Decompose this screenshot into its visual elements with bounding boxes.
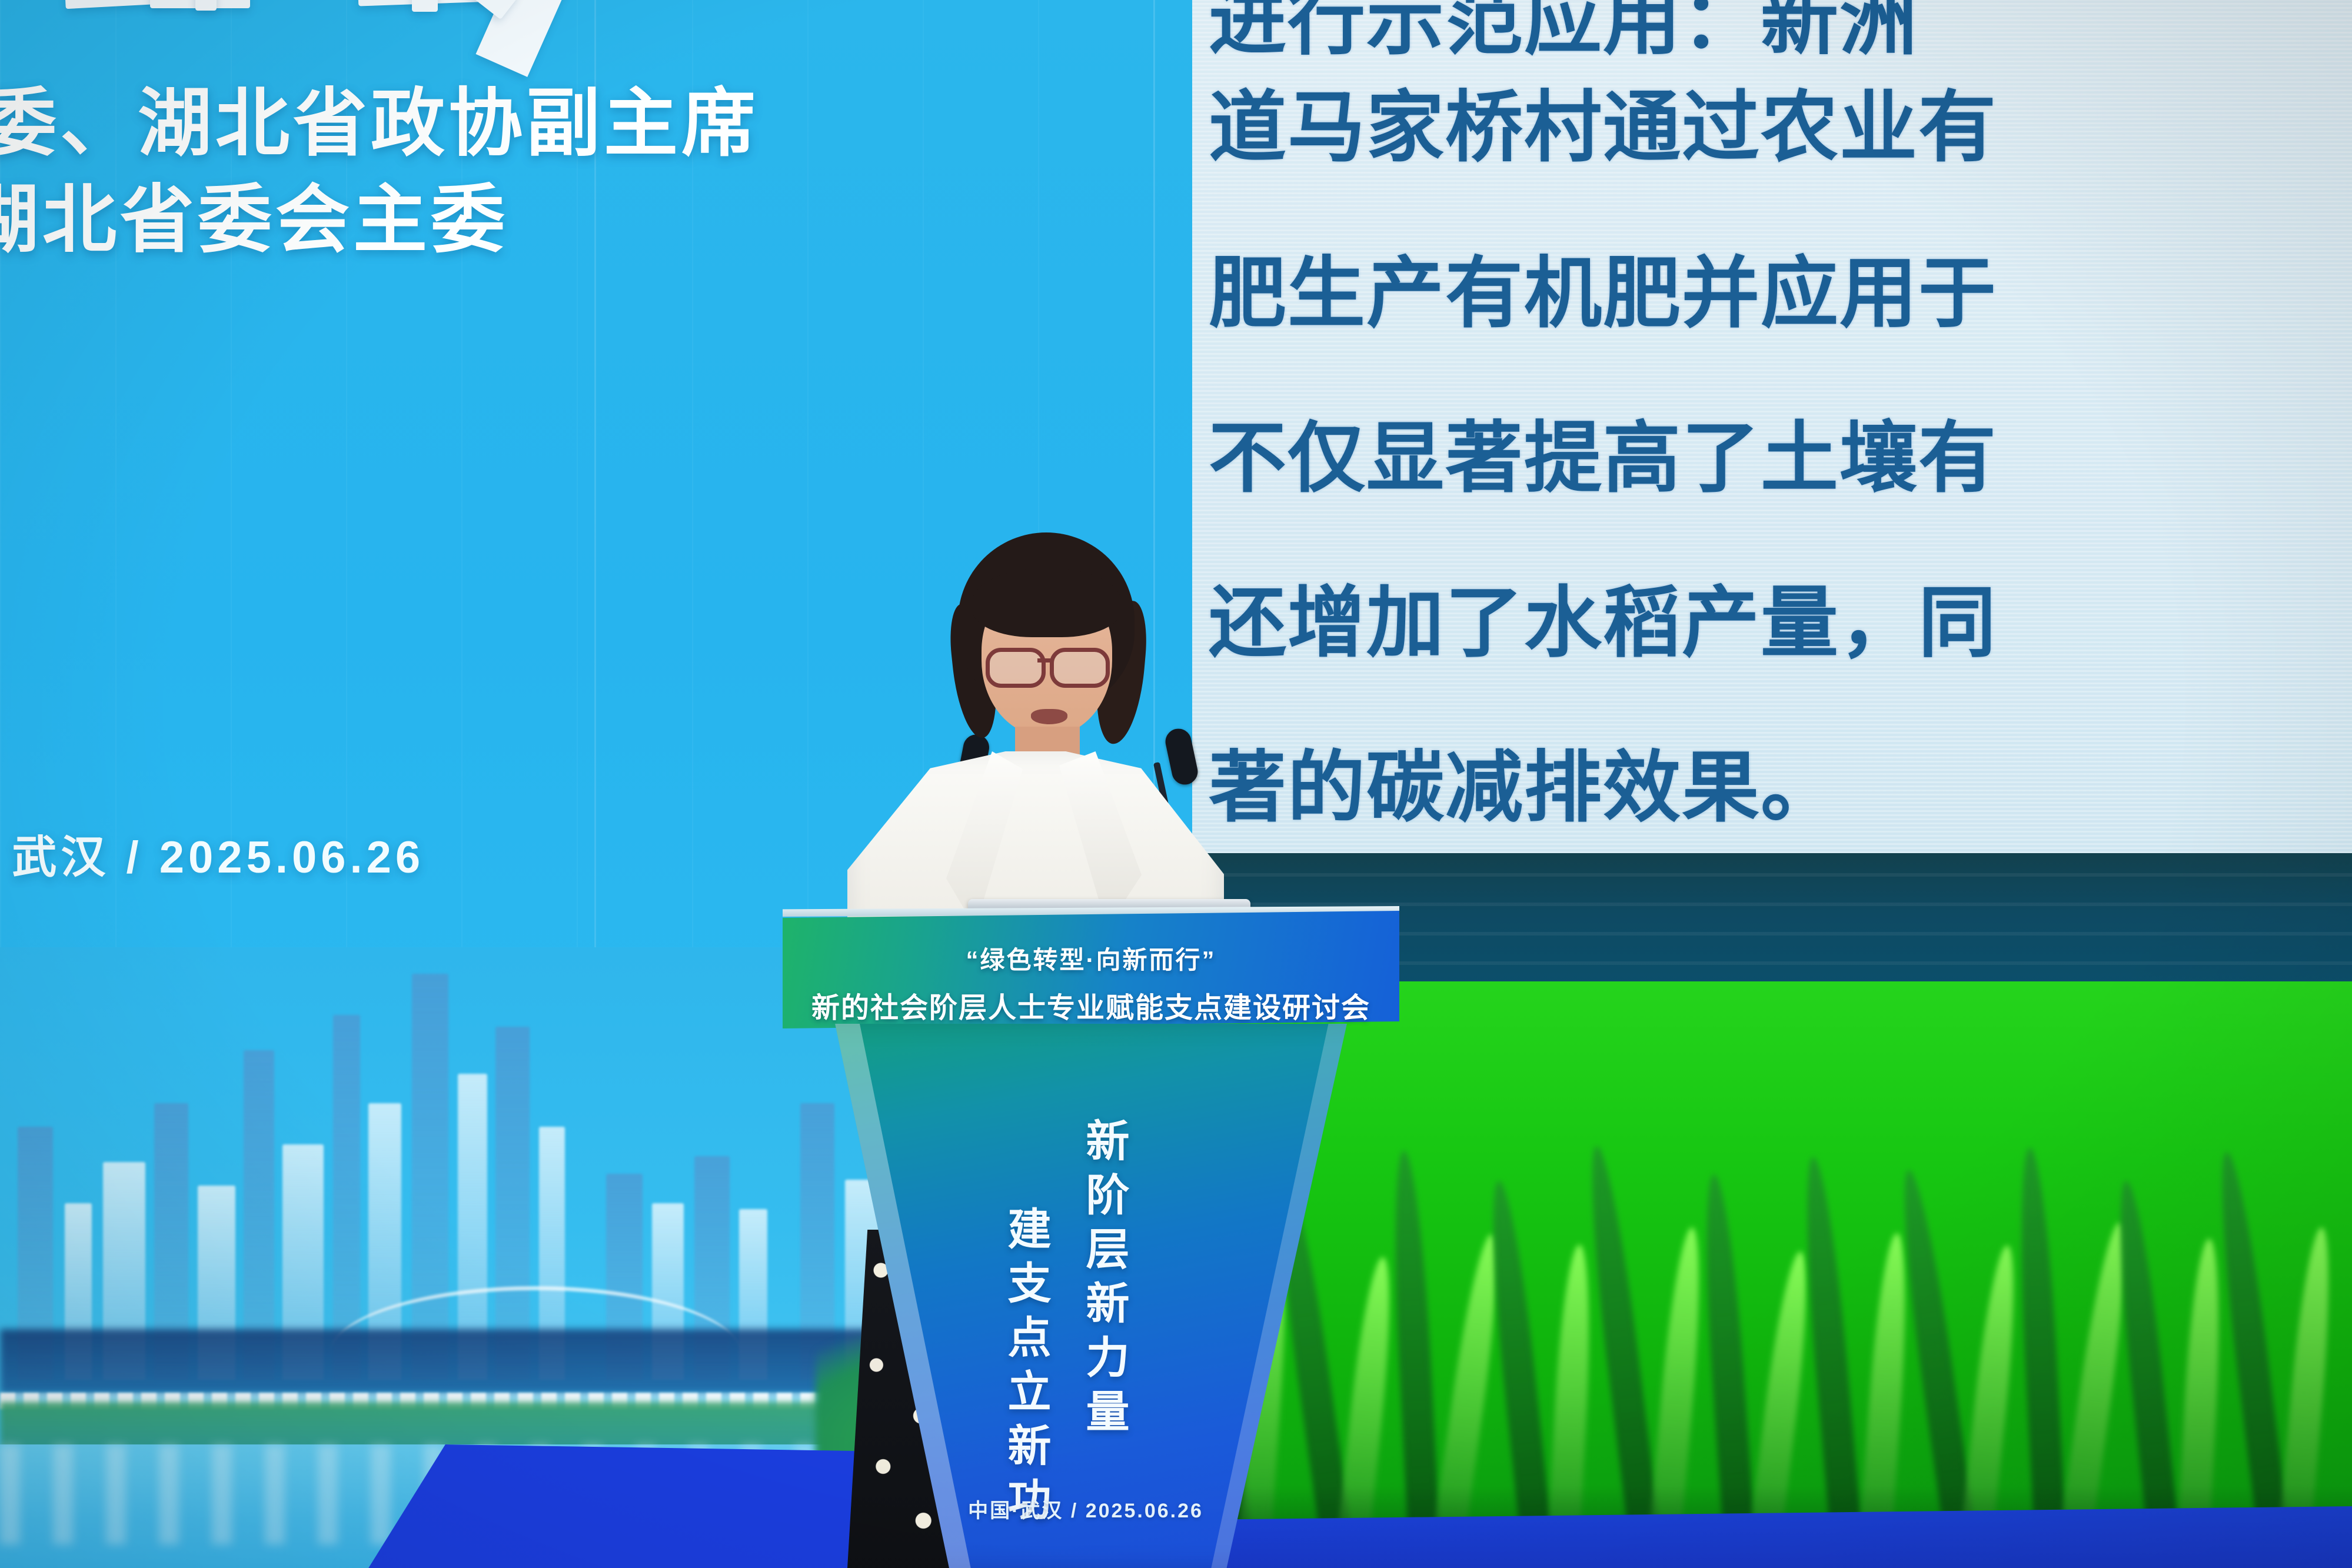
slide-text-line-6: 著的碳减排效果。 [1209,725,1839,837]
backdrop-credit-line-2: 湖北省委会主委 [0,160,508,267]
slide-text-line-2: 道马家桥村通过农业有 [1209,65,1997,177]
podium-slogan-column-2: 新阶层新力量 [1073,1118,1136,1531]
glasses-bridge [1037,658,1050,663]
screenshot-root: 委、湖北省政协副主席 湖北省委会主委 · 武汉 / 2025.06.26 [0,0,2352,1568]
slide-text-line-1: 进行示范应用：新洲 [1209,0,1918,70]
headline-glyph-fragment [412,0,438,12]
podium-slogan: 建支点立新功 新阶层新力量 [994,1118,1136,1531]
backdrop-credit-line-1: 委、湖北省政协副主席 [0,64,759,171]
podium-title-block: “绿色转型·向新而行” 新的社会阶层人士专业赋能支点建设研讨会 [783,940,1399,1026]
glasses-lens-left [986,648,1046,688]
slide-text-line-5: 还增加了水稻产量，同 [1209,560,1997,673]
speaker-figure [812,532,1259,956]
podium-event-title: 新的社会阶层人士专业赋能支点建设研讨会 [783,984,1399,1026]
podium-footer-date: 中国·武汉 / 2025.06.26 [909,1494,1262,1523]
headline-glyph-fragment [195,0,217,11]
podium-theme-quote: “绿色转型·向新而行” [783,940,1399,976]
podium-slogan-column-1: 建支点立新功 [994,1206,1057,1531]
glasses-lens-right [1050,648,1110,688]
slide-text-line-3: 肥生产有机肥并应用于 [1209,231,1997,343]
projection-screen: 进行示范应用：新洲 道马家桥村通过农业有 肥生产有机肥并应用于 不仅显著提高了土… [1192,0,2352,853]
backdrop-location-date: · 武汉 / 2025.06.26 [0,821,424,885]
mouth [1031,709,1067,724]
bangs [972,568,1122,637]
slide-text-line-4: 不仅显著提高了土壤有 [1209,395,1997,508]
rice-field-graphic [1192,981,2352,1568]
